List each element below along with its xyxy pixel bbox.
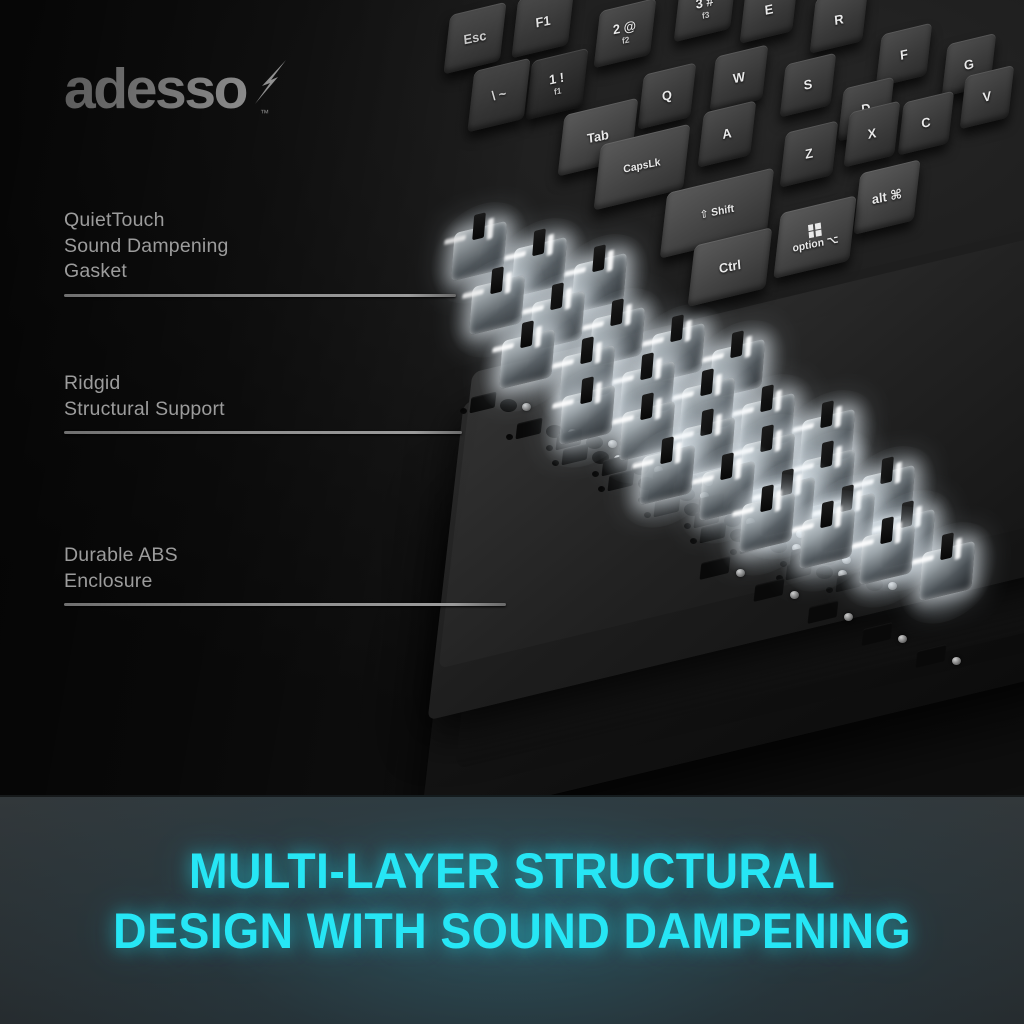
plate-hole <box>500 399 517 412</box>
plate-hole <box>552 460 559 466</box>
windows-logo-icon <box>808 223 822 239</box>
keycap-one: 1 !f1 <box>525 48 588 121</box>
keycap-q: Q <box>638 62 697 130</box>
keycap-e: E <box>740 0 799 44</box>
keycap-f2: C <box>898 90 955 155</box>
callout-enclosure-label: Durable ABS Enclosure <box>64 543 506 594</box>
keycap-v-legend: V <box>960 67 1013 127</box>
keycap-f2-legend: C <box>898 93 953 154</box>
plate-hole <box>592 471 599 477</box>
callout-structure-label: Ridgid Structural Support <box>64 371 462 422</box>
keycap-r-legend: R <box>810 0 867 52</box>
callout-enclosure: Durable ABS Enclosure <box>64 543 506 606</box>
keycap-esc-legend: Esc <box>444 4 506 72</box>
keycap-alt-legend: alt ⌘ <box>854 162 920 233</box>
plate-hole <box>598 486 605 492</box>
plate-screw <box>952 657 961 665</box>
mechanical-switch <box>469 275 525 336</box>
keycap-tilde: \ ~ <box>467 58 530 133</box>
feature-graphic: EscF13 #f32 @f21 !f1\ ~ERFGQWSDCVTabAZXC… <box>0 0 1024 1024</box>
callout-structure-leader-line <box>64 431 462 434</box>
keycap-z: Z <box>780 120 839 188</box>
plate-screw <box>898 635 907 643</box>
keycap-w-legend: W <box>710 46 767 109</box>
keycap-t-legend: F <box>876 25 931 86</box>
plate-screw <box>844 613 853 621</box>
plate-hole <box>546 445 553 451</box>
keycap-two: 2 @f2 <box>594 0 657 68</box>
keycap-option: option ⌥ <box>773 195 856 279</box>
keycap-f3-sublegend: f3 <box>702 11 710 21</box>
keycap-x-legend: X <box>844 103 899 166</box>
keycap-x: X <box>844 100 901 167</box>
keycap-z-legend: Z <box>780 122 837 185</box>
lightning-bolt-icon <box>255 60 286 104</box>
plate-hole <box>730 549 737 555</box>
plate-hole <box>826 587 833 593</box>
plate-hole <box>688 509 695 515</box>
keycap-f3: 3 #f3 <box>674 0 737 42</box>
plate-hole <box>506 434 513 440</box>
keycap-w: W <box>710 44 769 112</box>
callout-gasket-label: QuietTouch Sound Dampening Gasket <box>64 208 456 285</box>
headline-line-1: MULTI-LAYER STRUCTURAL <box>189 843 835 899</box>
headline-banner: MULTI-LAYER STRUCTURAL DESIGN WITH SOUND… <box>0 795 1024 1024</box>
keycap-one-legend: 1 !f1 <box>526 50 588 118</box>
keycap-r: R <box>810 0 869 54</box>
plate-screw <box>522 403 531 411</box>
plate-hole <box>780 561 787 567</box>
callout-gasket-leader-line <box>64 294 456 297</box>
keycap-esc: Esc <box>443 2 506 75</box>
keycap-alt: alt ⌘ <box>853 159 920 235</box>
callout-enclosure-leader-line <box>64 603 506 606</box>
trademark-mark: ™ <box>260 108 269 118</box>
plate-hole <box>644 512 651 518</box>
keycap-v: V <box>960 65 1015 130</box>
keycap-f3-legend: 3 #f3 <box>674 0 735 40</box>
keycap-q-legend: Q <box>638 64 695 127</box>
keycap-two-sublegend: f2 <box>622 36 630 46</box>
adesso-lightning-logo: adesso ™ <box>64 58 364 124</box>
keycap-one-sublegend: f1 <box>554 87 562 97</box>
keycap-s-legend: S <box>780 55 835 116</box>
adesso-logo: adesso ™ <box>64 58 364 124</box>
headline-line-2: DESIGN WITH SOUND DAMPENING <box>36 901 988 961</box>
keycap-two-legend: 2 @f2 <box>594 0 655 66</box>
keycap-option-legend: option ⌥ <box>774 198 856 276</box>
plate-screw <box>608 440 617 448</box>
keycap-s: S <box>780 52 837 117</box>
callout-gasket: QuietTouch Sound Dampening Gasket <box>64 208 456 297</box>
plate-hole <box>816 566 833 579</box>
keycap-f1: F1 <box>511 0 574 58</box>
keycap-e-legend: E <box>740 0 797 42</box>
plate-screw <box>790 591 799 599</box>
plate-screw <box>736 569 745 577</box>
keycap-a-legend: A <box>698 102 755 165</box>
svg-text:adesso: adesso <box>64 58 247 121</box>
hero-section: EscF13 #f32 @f21 !f1\ ~ERFGQWSDCVTabAZXC… <box>0 0 1024 795</box>
plate-hole <box>690 538 697 544</box>
plate-hole <box>684 523 691 529</box>
keycap-a: A <box>698 100 757 168</box>
headline: MULTI-LAYER STRUCTURAL DESIGN WITH SOUND… <box>36 841 988 961</box>
keycap-f1-legend: F1 <box>512 0 574 56</box>
plate-screw <box>888 582 897 590</box>
callout-structure: Ridgid Structural Support <box>64 371 462 434</box>
keycap-tilde-legend: \ ~ <box>468 60 530 130</box>
